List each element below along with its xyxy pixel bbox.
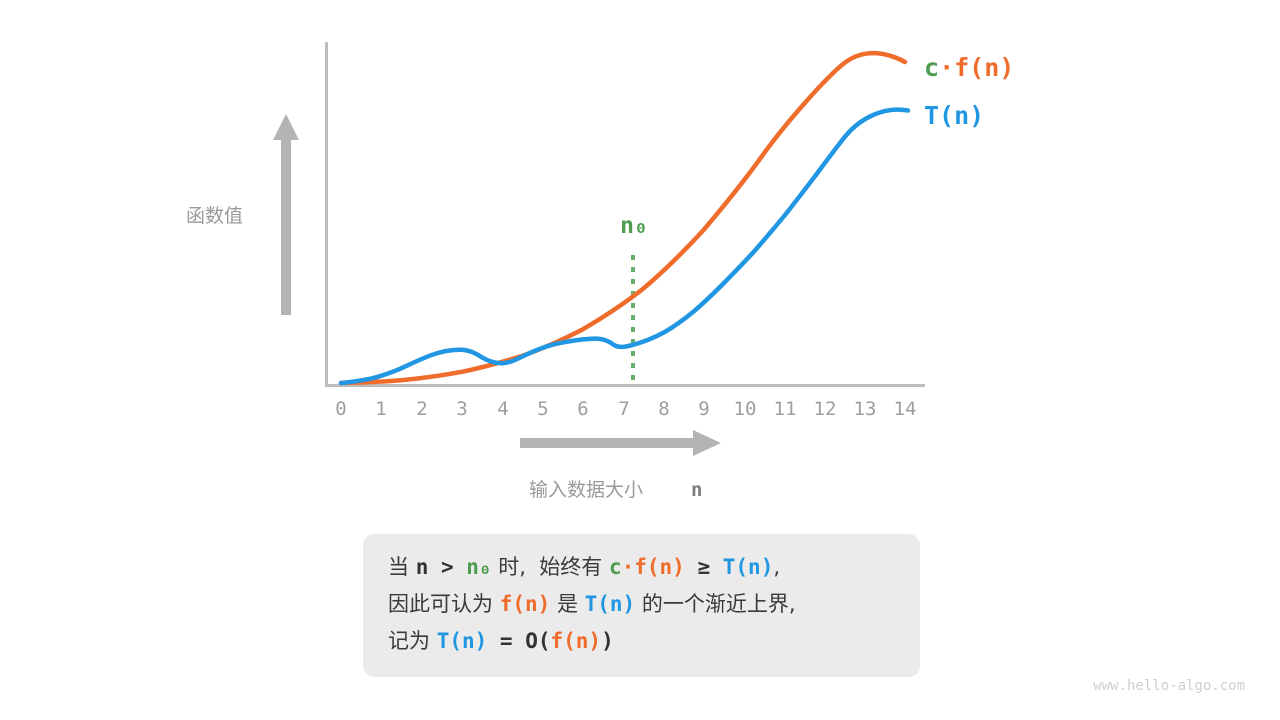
x-tick-10: 10: [734, 398, 757, 420]
caption-line-1: 当 n > n₀ 时, 始终有 c·f(n) ≥ T(n),: [388, 549, 908, 586]
n0-annotation-label: n₀: [620, 213, 648, 239]
legend-tn-part: T(n): [924, 101, 984, 130]
y-axis-label: 函数值: [186, 205, 243, 227]
x-tick-12: 12: [814, 398, 837, 420]
x-tick-8: 8: [658, 398, 669, 420]
caption-line-3: 记为 T(n) = O(f(n)): [388, 623, 908, 660]
x-tick-3: 3: [456, 398, 467, 420]
x-tick-11: 11: [774, 398, 797, 420]
x-axis-variable-label: n: [691, 479, 702, 501]
x-tick-9: 9: [698, 398, 709, 420]
x-tick-2: 2: [416, 398, 427, 420]
svg-text:T(n): T(n): [924, 101, 984, 130]
x-axis-direction-arrow: [520, 430, 721, 456]
svg-text:c·f(n): c·f(n): [924, 53, 1014, 82]
caption-line-2: 因此可认为 f(n) 是 T(n) 的一个渐近上界,: [388, 586, 908, 623]
legend-cfn-part-fn: ·f(n): [939, 53, 1014, 82]
y-axis-direction-arrow: [273, 114, 299, 315]
legend-c-f-n: c·f(n): [924, 53, 1014, 82]
legend-cfn-part-c: c: [924, 53, 939, 82]
x-tick-6: 6: [577, 398, 588, 420]
x-tick-5: 5: [537, 398, 548, 420]
x-tick-1: 1: [375, 398, 386, 420]
x-axis-label: 输入数据大小: [529, 479, 643, 501]
legend-t-n: T(n): [924, 101, 984, 130]
watermark: www.hello-algo.com: [1093, 678, 1245, 694]
x-tick-7: 7: [618, 398, 629, 420]
x-tick-13: 13: [854, 398, 877, 420]
x-tick-0: 0: [335, 398, 346, 420]
x-tick-labels: 0 1 2 3 4 5 6 7 8 9 10 11 12 13 14: [335, 398, 916, 420]
curve-t-n: [341, 110, 908, 383]
caption-text-block: 当 n > n₀ 时, 始终有 c·f(n) ≥ T(n), 因此可认为 f(n…: [388, 549, 908, 660]
x-tick-4: 4: [497, 398, 508, 420]
figure-root: 函数值 输入数据大小 n 0 1 2 3 4 5 6 7 8 9 10 11 1…: [0, 0, 1280, 720]
x-tick-14: 14: [894, 398, 917, 420]
